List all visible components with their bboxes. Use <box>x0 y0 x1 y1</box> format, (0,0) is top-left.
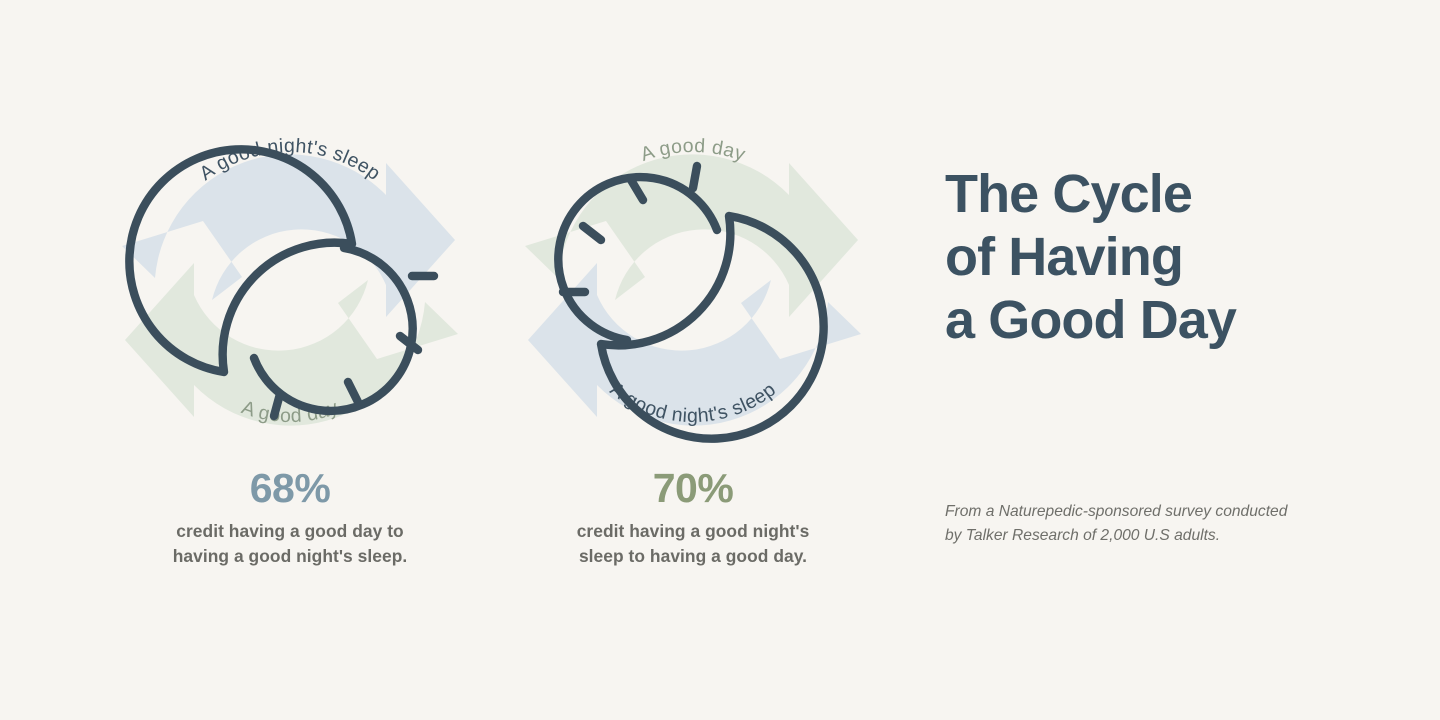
infographic-canvas: A good night's sleep A good day <box>0 0 1440 720</box>
page-title-line-1: The Cycle <box>945 164 1192 224</box>
stat-1-caption-line-2: having a good night's sleep. <box>173 546 408 566</box>
survey-attribution: From a Naturepedic-sponsored survey cond… <box>945 500 1295 548</box>
sun-ray-2 <box>631 180 643 200</box>
stat-1-caption-line-1: credit having a good day to <box>176 521 403 541</box>
stat-block-1: 68% credit having a good day to having a… <box>100 468 480 568</box>
sun-ray-3 <box>348 382 358 402</box>
stat-1-caption: credit having a good day to having a goo… <box>100 519 480 568</box>
sun-ray-1 <box>693 166 697 188</box>
cycle-diagram-1: A good night's sleep A good day <box>100 100 480 480</box>
stat-1-value: 68% <box>100 468 480 509</box>
sun-ray-4 <box>274 394 280 416</box>
stat-block-2: 70% credit having a good night's sleep t… <box>503 468 883 568</box>
stat-2-value: 70% <box>503 468 883 509</box>
sun-disc-arc <box>254 248 413 411</box>
cycle-diagram-2: A good day A good night's sleep <box>503 100 883 480</box>
sun-ray-3 <box>583 226 601 240</box>
sun-behind-moon-icon <box>503 100 883 480</box>
stat-2-caption-line-1: credit having a good night's <box>577 521 810 541</box>
page-title-line-2: of Having <box>945 227 1183 287</box>
crescent-moon <box>601 216 824 439</box>
page-title-line-3: a Good Day <box>945 290 1236 350</box>
page-title: The Cycle of Having a Good Day <box>945 163 1375 352</box>
stat-2-caption: credit having a good night's sleep to ha… <box>503 519 883 568</box>
crescent-moon <box>129 149 352 372</box>
moon-over-sun-icon <box>100 100 480 480</box>
stat-2-caption-line-2: sleep to having a good day. <box>579 546 807 566</box>
